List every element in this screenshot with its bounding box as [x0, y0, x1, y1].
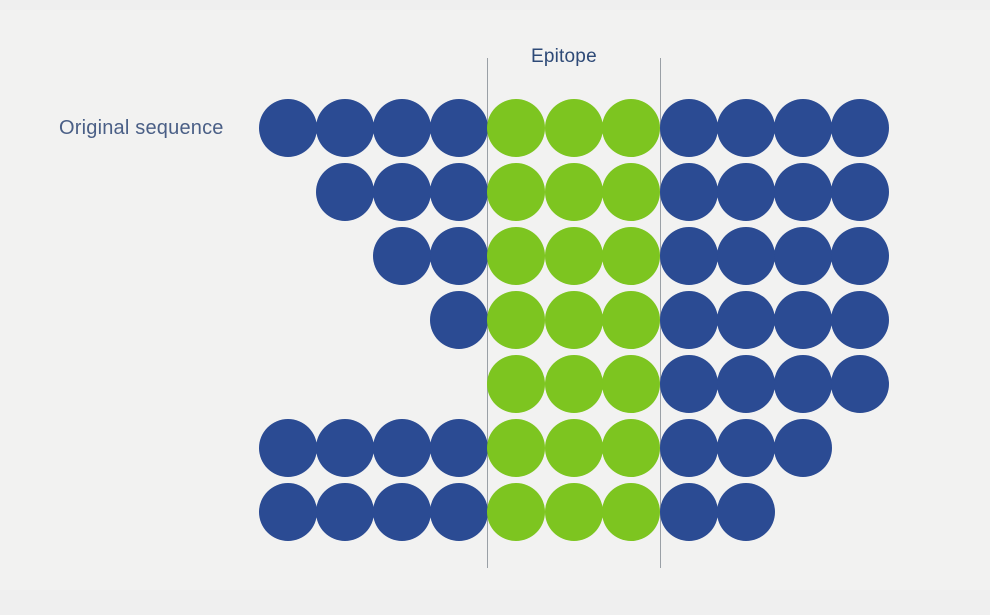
- dot-row5-right2: [717, 355, 775, 413]
- dot-row1-right3: [774, 99, 832, 157]
- epitope-label: Epitope: [531, 46, 597, 68]
- dot-row2-epitope2: [545, 163, 603, 221]
- dot-row7-left1: [259, 483, 317, 541]
- dot-row6-epitope1: [487, 419, 545, 477]
- dot-row1-right2: [717, 99, 775, 157]
- dot-row4-epitope3: [602, 291, 660, 349]
- dot-row2-epitope3: [602, 163, 660, 221]
- dot-row6-right3: [774, 419, 832, 477]
- dot-row7-left4: [430, 483, 488, 541]
- dot-row2-left2: [373, 163, 431, 221]
- dot-row2-right1: [660, 163, 718, 221]
- dot-row6-left4: [430, 419, 488, 477]
- dot-row3-right2: [717, 227, 775, 285]
- dot-row3-right1: [660, 227, 718, 285]
- dot-row5-right1: [660, 355, 718, 413]
- dot-row2-right3: [774, 163, 832, 221]
- dot-row3-right3: [774, 227, 832, 285]
- epitope-diagram: Epitope Original sequence: [0, 0, 990, 615]
- dot-row1-right4: [831, 99, 889, 157]
- dot-row2-right2: [717, 163, 775, 221]
- original-sequence-label: Original sequence: [59, 117, 224, 140]
- dot-row5-epitope2: [545, 355, 603, 413]
- dot-row7-epitope2: [545, 483, 603, 541]
- dot-row2-left1: [316, 163, 374, 221]
- dot-row1-left2: [316, 99, 374, 157]
- dot-row3-left2: [430, 227, 488, 285]
- dot-row6-right2: [717, 419, 775, 477]
- dot-row7-epitope3: [602, 483, 660, 541]
- dot-row4-right4: [831, 291, 889, 349]
- dot-row7-epitope1: [487, 483, 545, 541]
- dot-row4-left1: [430, 291, 488, 349]
- dot-row4-epitope2: [545, 291, 603, 349]
- dot-row6-left1: [259, 419, 317, 477]
- dot-row5-right4: [831, 355, 889, 413]
- dot-row1-left1: [259, 99, 317, 157]
- dot-row6-right1: [660, 419, 718, 477]
- dot-row1-left3: [373, 99, 431, 157]
- dot-row6-left2: [316, 419, 374, 477]
- dot-row3-right4: [831, 227, 889, 285]
- dot-row6-epitope2: [545, 419, 603, 477]
- dot-row1-right1: [660, 99, 718, 157]
- dot-row5-epitope3: [602, 355, 660, 413]
- dot-row1-epitope2: [545, 99, 603, 157]
- dot-row1-epitope1: [487, 99, 545, 157]
- dot-row3-epitope1: [487, 227, 545, 285]
- figure-canvas: Epitope Original sequence: [0, 0, 990, 615]
- dot-row2-right4: [831, 163, 889, 221]
- dot-row7-left2: [316, 483, 374, 541]
- dot-row5-epitope1: [487, 355, 545, 413]
- dot-row7-right1: [660, 483, 718, 541]
- dot-row2-left3: [430, 163, 488, 221]
- dot-row7-right2: [717, 483, 775, 541]
- dot-row6-epitope3: [602, 419, 660, 477]
- dot-row7-left3: [373, 483, 431, 541]
- dot-row3-left1: [373, 227, 431, 285]
- dot-row4-right3: [774, 291, 832, 349]
- dot-row3-epitope2: [545, 227, 603, 285]
- dot-row5-right3: [774, 355, 832, 413]
- dot-row4-epitope1: [487, 291, 545, 349]
- dot-row1-left4: [430, 99, 488, 157]
- dot-row2-epitope1: [487, 163, 545, 221]
- dot-row4-right1: [660, 291, 718, 349]
- dot-row1-epitope3: [602, 99, 660, 157]
- dot-row6-left3: [373, 419, 431, 477]
- dot-row4-right2: [717, 291, 775, 349]
- dot-row3-epitope3: [602, 227, 660, 285]
